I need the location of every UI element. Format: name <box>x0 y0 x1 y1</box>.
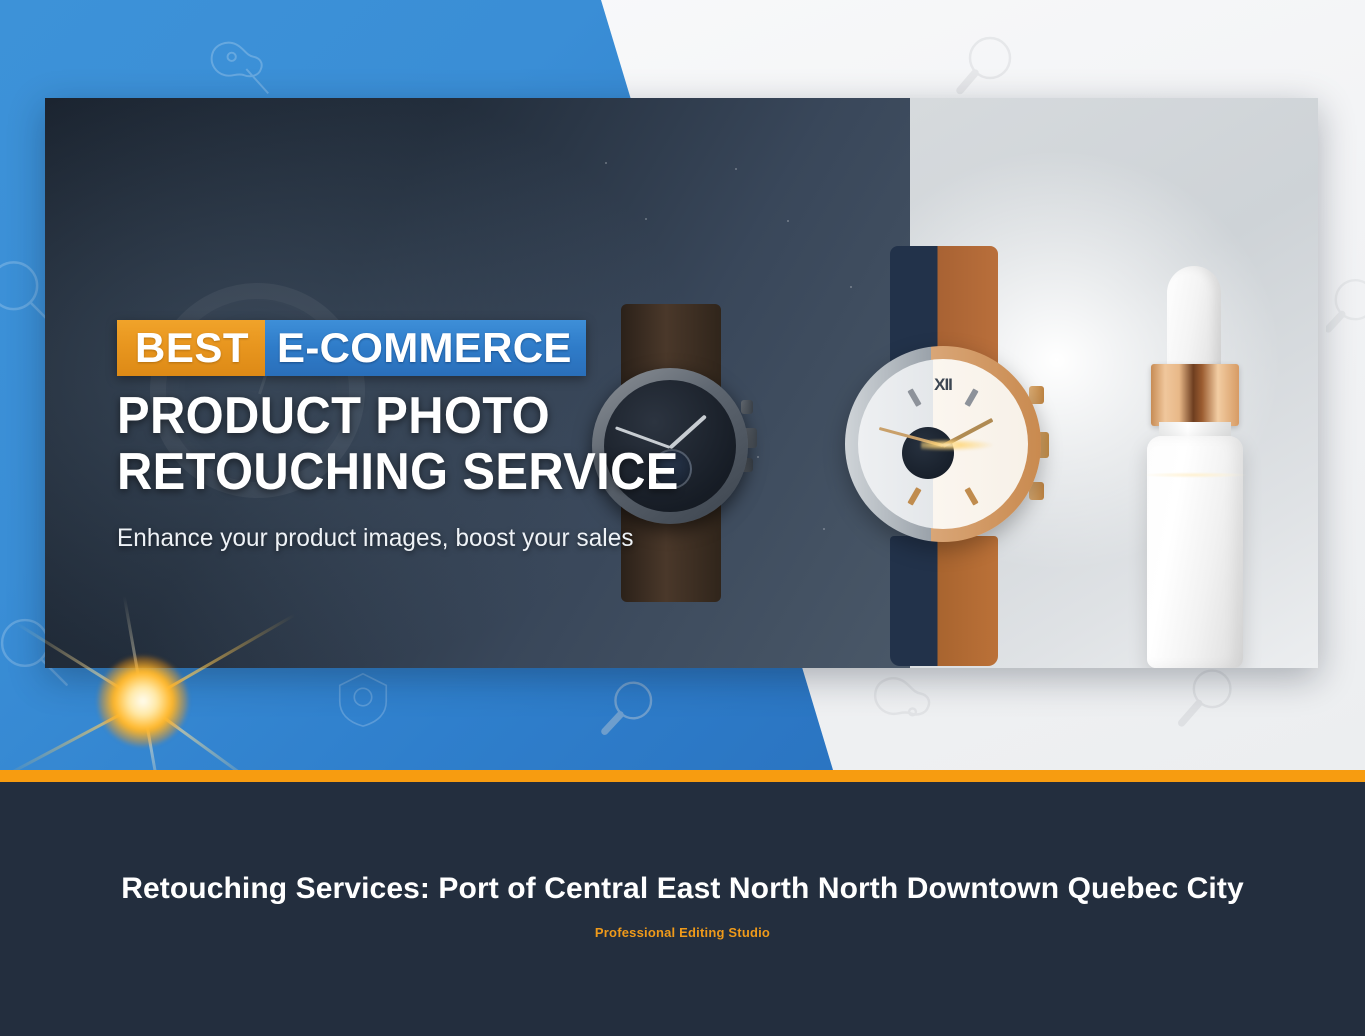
bottle-bulb <box>1167 266 1221 374</box>
banner-title: PRODUCT PHOTO RETOUCHING SERVICE <box>117 389 700 500</box>
watch-pusher-top <box>741 400 753 414</box>
bottle-shine <box>1125 471 1265 479</box>
product-dropper-bottle <box>1125 266 1265 668</box>
promo-banner[interactable]: BEST E-COMMERCE PRODUCT PHOTO RETOUCHING… <box>45 98 1318 668</box>
banner-title-line2: RETOUCHING SERVICE <box>117 445 700 501</box>
orange-divider <box>0 770 1365 782</box>
page-root: BEST E-COMMERCE PRODUCT PHOTO RETOUCHING… <box>0 0 1365 1036</box>
split-watch-index-3 <box>907 388 921 407</box>
split-watch-index-2 <box>907 487 921 506</box>
product-watch-split: XII <box>835 246 1050 666</box>
kicker-ecommerce-label: E-COMMERCE <box>265 320 586 376</box>
split-watch-strap-bottom <box>890 536 998 666</box>
footer-title: Retouching Services: Port of Central Eas… <box>0 872 1365 906</box>
lens-flare-watch <box>921 436 1041 454</box>
banner-headline-block: BEST E-COMMERCE PRODUCT PHOTO RETOUCHING… <box>117 320 737 553</box>
split-watch-roman-numeral: XII <box>934 375 952 395</box>
footer-bar: Retouching Services: Port of Central Eas… <box>0 782 1365 1036</box>
banner-title-line1: PRODUCT PHOTO <box>117 389 700 445</box>
kicker-badge: BEST E-COMMERCE <box>117 320 586 376</box>
hero-area: BEST E-COMMERCE PRODUCT PHOTO RETOUCHING… <box>0 0 1365 770</box>
kicker-best-label: BEST <box>117 320 265 376</box>
banner-subtitle: Enhance your product images, boost your … <box>117 524 718 553</box>
bottle-collar <box>1151 364 1239 426</box>
split-watch-index-4 <box>964 388 978 407</box>
split-watch-index-1 <box>964 487 978 506</box>
footer-subtitle: Professional Editing Studio <box>0 925 1365 940</box>
